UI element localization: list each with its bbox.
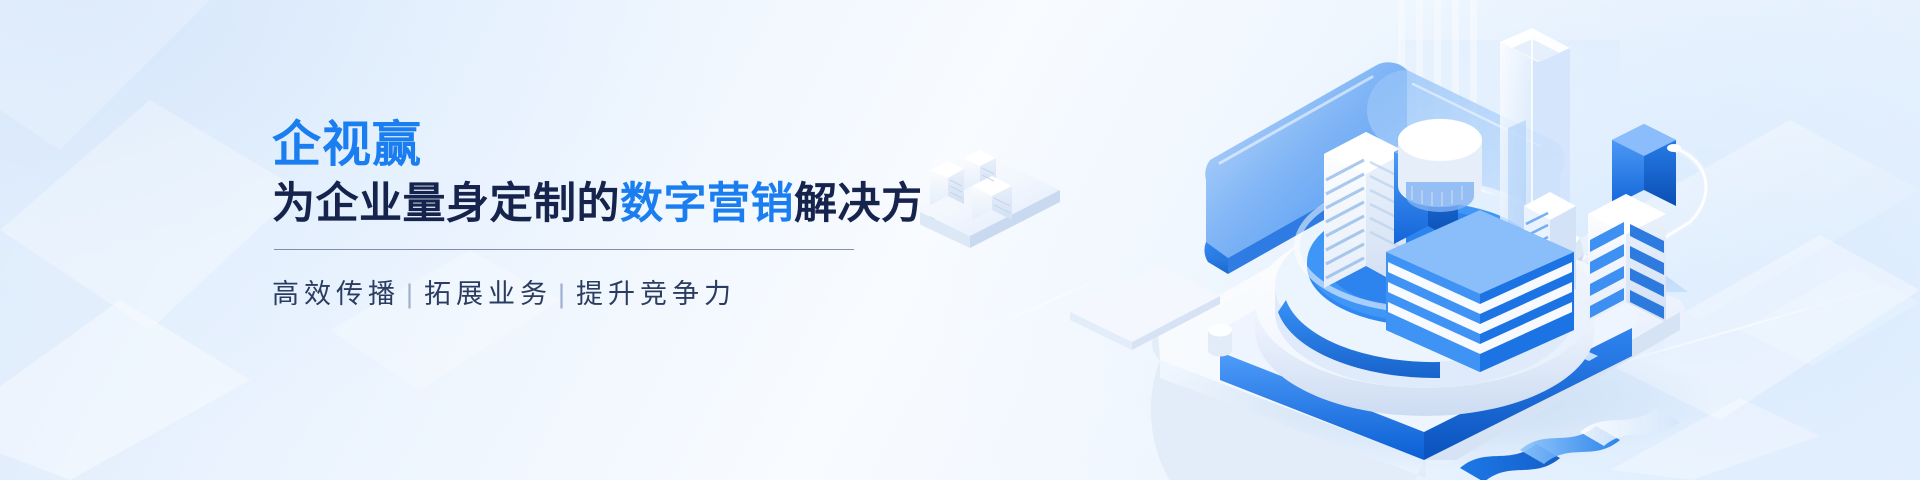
brand-title: 企视赢 [272,120,912,171]
tagline-item-1: 高效传播 [272,279,400,309]
tagline-separator-2: | [558,279,570,309]
divider-rule [274,249,854,250]
tagline: 高效传播|拓展业务|提升竞争力 [272,272,912,311]
cylinder-tank [1398,119,1482,212]
peg-icon [1208,324,1232,357]
headline-before: 为企业量身定制的 [272,180,620,228]
illustration-canvas [920,0,1920,480]
hero-banner: 企视赢 为企业量身定制的数字营销解决方案 高效传播|拓展业务|提升竞争力 [0,0,1920,480]
copy-block: 企视赢 为企业量身定制的数字营销解决方案 高效传播|拓展业务|提升竞争力 [272,120,912,311]
tagline-item-2: 拓展业务 [424,279,552,309]
tagline-separator-1: | [406,279,418,309]
small-building-plate [920,150,1060,248]
headline-highlight: 数字营销 [620,180,794,228]
tagline-item-3: 提升竞争力 [576,279,736,309]
isometric-illustration [920,0,1920,480]
headline: 为企业量身定制的数字营销解决方案 [272,181,912,227]
